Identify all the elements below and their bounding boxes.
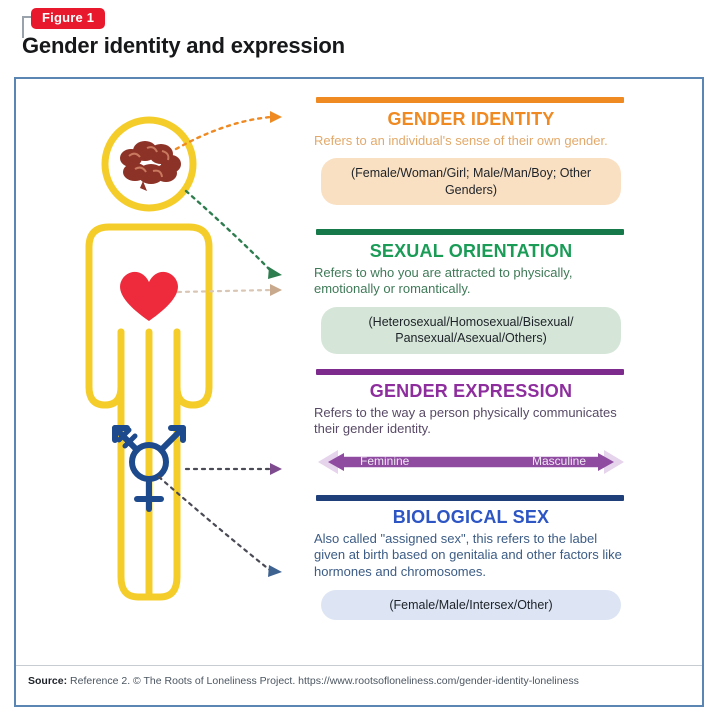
panel-description-expression: Refers to the way a person physically co…: [312, 405, 630, 438]
panel-examples-biological: (Female/Male/Intersex/Other): [321, 590, 621, 621]
panel-title-orientation: SEXUAL ORIENTATION: [312, 241, 630, 262]
panel-accent-bar-identity: [316, 97, 624, 103]
illustration-panel: [26, 87, 316, 657]
figure-number-badge: Figure 1: [31, 8, 105, 29]
right-arm-outline: [177, 330, 209, 405]
panel-examples-orientation: (Heterosexual/Homosexual/Bisexual/ Panse…: [321, 307, 621, 354]
brain-icon: [120, 141, 181, 191]
panel-sexual-orientation: SEXUAL ORIENTATION Refers to who you are…: [312, 229, 630, 354]
connector-orientation-heart: [178, 284, 282, 296]
panel-gender-expression: GENDER EXPRESSION Refers to the way a pe…: [312, 369, 630, 476]
source-label: Source:: [28, 675, 67, 687]
figure-content: GENDER IDENTITY Refers to an individual'…: [16, 79, 702, 665]
connector-identity: [176, 111, 282, 149]
figure-header: Figure 1 Gender identity and expression: [0, 0, 720, 72]
panel-title-expression: GENDER EXPRESSION: [312, 381, 630, 402]
panel-accent-bar-orientation: [316, 229, 624, 235]
connector-orientation-brain: [186, 191, 282, 279]
panel-accent-bar-biological: [316, 495, 624, 501]
page-title: Gender identity and expression: [22, 33, 345, 59]
connector-expression: [186, 463, 282, 475]
panel-examples-identity: (Female/Woman/Girl; Male/Man/Boy; Other …: [321, 158, 621, 205]
heart-icon: [120, 272, 178, 321]
spectrum-label-masculine: Masculine: [532, 454, 586, 468]
panel-gender-identity: GENDER IDENTITY Refers to an individual'…: [312, 97, 630, 205]
panel-description-orientation: Refers to who you are attracted to physi…: [312, 265, 630, 298]
panel-description-identity: Refers to an individual's sense of their…: [312, 133, 630, 150]
panel-accent-bar-expression: [316, 369, 624, 375]
source-note: Source: Reference 2. © The Roots of Lone…: [28, 675, 692, 689]
panel-biological-sex: BIOLOGICAL SEX Also called "assigned sex…: [312, 495, 630, 620]
figure-frame: GENDER IDENTITY Refers to an individual'…: [14, 77, 704, 707]
definition-panels: GENDER IDENTITY Refers to an individual'…: [312, 97, 692, 657]
panel-description-biological: Also called "assigned sex", this refers …: [312, 531, 630, 581]
spectrum-label-feminine: Feminine: [360, 454, 409, 468]
footer-divider: [16, 665, 702, 666]
left-arm-outline: [89, 330, 121, 405]
body-diagram-svg: [26, 87, 316, 657]
source-text: Reference 2. © The Roots of Loneliness P…: [70, 675, 579, 687]
panel-title-identity: GENDER IDENTITY: [312, 109, 630, 130]
gender-expression-spectrum: Feminine Masculine: [318, 448, 624, 476]
panel-title-biological: BIOLOGICAL SEX: [312, 507, 630, 528]
